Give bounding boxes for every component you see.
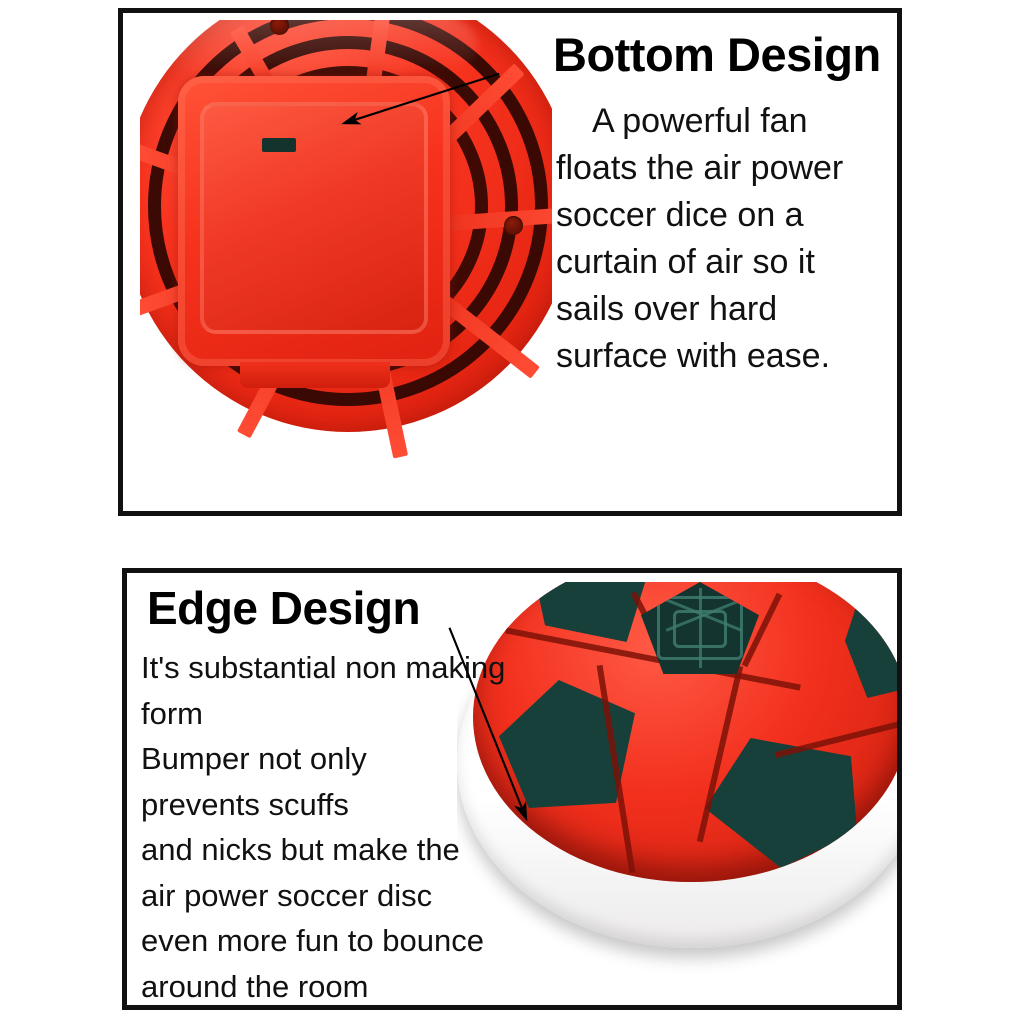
panel-title-bottom-design: Bottom Design — [553, 31, 881, 78]
battery-cover-inset — [200, 102, 428, 334]
hover-disc-underside-illustration — [140, 20, 552, 480]
fan-grille-pentagon — [641, 582, 759, 674]
panel-body-edge-design: It's substantial non making form Bumper … — [141, 645, 521, 1010]
panel-body-bottom-design: A powerful fan floats the air power socc… — [556, 98, 876, 379]
product-photo-underside — [140, 20, 552, 484]
panel-edge-design: Edge Design It's substantial non making … — [122, 568, 902, 1010]
soccer-seam — [775, 716, 897, 758]
hover-soccer-disc-illustration — [457, 582, 897, 1002]
panel-bottom-design: Bottom Design A powerful fan floats the … — [118, 8, 902, 516]
battery-cover-plate — [178, 76, 450, 366]
product-photo-soccer-disc — [457, 582, 897, 1006]
infographic-canvas: Bottom Design A powerful fan floats the … — [0, 0, 1024, 1024]
soccer-facet-dark — [845, 588, 897, 698]
battery-cover-tab — [240, 362, 390, 388]
screw-hole-right — [504, 216, 523, 235]
panel-title-edge-design: Edge Design — [147, 585, 420, 631]
battery-cover-slot — [262, 138, 296, 152]
